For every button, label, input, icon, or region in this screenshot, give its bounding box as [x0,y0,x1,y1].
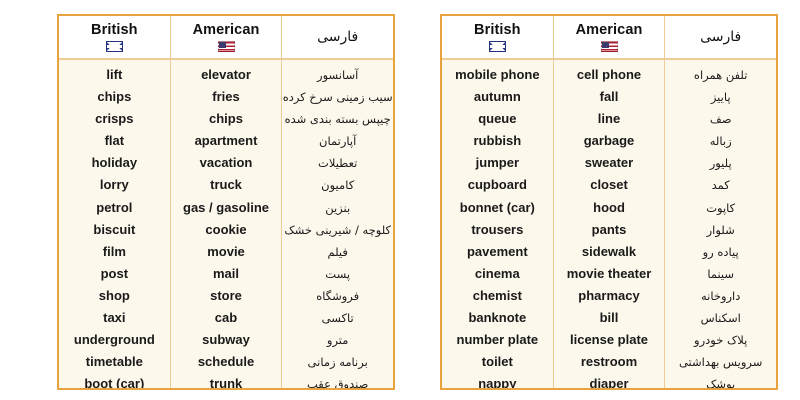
column-persian-left: آسانسورسیب زمینی سرخ کردهچیپس بسته بندی … [281,60,393,390]
table-cell: closet [590,174,628,196]
table-cell: pants [592,219,627,241]
table-body-right: mobile phoneautumnqueuerubbishjumpercupb… [442,60,776,390]
table-cell: آپارتمان [319,130,356,152]
table-cell: اسکناس [701,307,741,329]
table-cell: boot (car) [84,373,144,390]
table-cell: سیب زمینی سرخ کرده [283,86,393,108]
table-cell: پلیور [710,152,732,174]
table-cell: بنزین [325,197,350,219]
column-american-left: elevatorfrieschipsapartmentvacationtruck… [170,60,282,390]
column-header-label: British [91,23,138,38]
table-cell: autumn [474,86,521,108]
table-cell: cab [215,307,237,329]
table-cell: پست [325,263,350,285]
table-cell: crisps [95,108,133,130]
table-cell: داروخانه [701,285,740,307]
table-cell: تاکسی [322,307,354,329]
column-header-persian-right: فارسی [664,16,776,58]
table-cell: garbage [584,130,635,152]
column-british-right: mobile phoneautumnqueuerubbishjumpercupb… [442,60,553,390]
table-cell: taxi [103,307,125,329]
table-cell: restroom [581,351,637,373]
table-cell: cupboard [468,174,527,196]
table-cell: subway [202,329,250,351]
table-cell: rubbish [474,130,522,152]
table-cell: trousers [471,219,523,241]
table-cell: diaper [590,373,629,390]
table-cell: schedule [198,351,254,373]
table-cell: مترو [327,329,349,351]
table-cell: cell phone [577,64,641,86]
column-header-label: British [474,23,521,38]
table-cell: فیلم [327,241,347,263]
table-cell: فروشگاه [316,285,359,307]
table-cell: پیاده رو [703,241,739,263]
table-cell: کمد [712,174,730,196]
table-header-row-right: British American فارسی [442,16,776,60]
table-cell: آسانسور [317,64,358,86]
column-header-british-left: British [59,16,170,58]
table-cell: bonnet (car) [460,197,535,219]
table-cell: store [210,285,242,307]
table-cell: holiday [92,152,138,174]
column-british-left: liftchipscrispsflatholidaylorrypetrolbis… [59,60,170,390]
table-cell: hood [593,197,625,219]
table-cell: کلوچه / شیرینی خشک [284,219,391,241]
table-cell: timetable [86,351,143,373]
table-cell: pharmacy [578,285,639,307]
table-cell: jumper [476,152,519,174]
table-cell: film [103,241,126,263]
column-header-british-right: British [442,16,553,58]
table-cell: سرویس بهداشتی [679,351,762,373]
table-cell: underground [74,329,155,351]
table-cell: license plate [570,329,648,351]
table-cell: cookie [205,219,246,241]
column-header-label: فارسی [700,30,741,45]
table-cell: تعطیلات [318,152,357,174]
column-header-american-right: American [553,16,665,58]
table-cell: صندوق عقب [307,373,368,390]
column-header-label: American [193,23,260,38]
table-cell: movie [207,241,245,263]
table-cell: lift [106,64,122,86]
table-cell: line [598,108,620,130]
column-header-label: فارسی [317,30,358,45]
table-cell: elevator [201,64,251,86]
table-cell: movie theater [567,263,652,285]
table-cell: bill [600,307,619,329]
table-cell: flat [105,130,125,152]
table-cell: nappy [478,373,516,390]
table-cell: سینما [707,263,734,285]
table-cell: biscuit [93,219,135,241]
table-cell: mail [213,263,239,285]
us-flag-icon [218,41,235,52]
table-cell: truck [210,174,242,196]
table-cell: fries [212,86,239,108]
uk-flag-icon [489,41,506,52]
table-cell: gas / gasoline [183,197,269,219]
table-cell: number plate [457,329,539,351]
table-cell: fall [600,86,619,108]
table-cell: sweater [585,152,633,174]
table-cell: lorry [100,174,129,196]
table-cell: trunk [210,373,243,390]
column-header-persian-left: فارسی [281,16,393,58]
table-cell: کاپوت [706,197,735,219]
vocabulary-comparison-page: British American فارسی liftchipscrispsfl… [0,0,800,400]
table-cell: پاییز [711,86,731,108]
table-cell: صف [710,108,732,130]
table-cell: پوشک [706,373,735,390]
table-cell: تلفن همراه [694,64,748,86]
table-cell: sidewalk [582,241,636,263]
table-cell: chips [209,108,243,130]
table-cell: post [101,263,128,285]
column-header-label: American [576,23,643,38]
table-cell: chemist [473,285,522,307]
table-cell: cinema [475,263,520,285]
uk-flag-icon [106,41,123,52]
table-cell: mobile phone [455,64,540,86]
column-american-right: cell phonefalllinegarbagesweaterclosetho… [553,60,665,390]
column-persian-right: تلفن همراهپاییزصفزبالهپلیورکمدکاپوتشلوار… [664,60,776,390]
table-cell: زباله [710,130,732,152]
column-header-american-left: American [170,16,282,58]
table-header-row-left: British American فارسی [59,16,393,60]
table-body-left: liftchipscrispsflatholidaylorrypetrolbis… [59,60,393,390]
vocabulary-table-left: British American فارسی liftchipscrispsfl… [57,14,395,390]
table-cell: vacation [200,152,253,174]
table-cell: chips [97,86,131,108]
table-cell: pavement [467,241,528,263]
table-cell: شلوار [707,219,735,241]
table-cell: apartment [195,130,258,152]
table-cell: shop [99,285,130,307]
table-cell: queue [478,108,516,130]
table-cell: پلاک خودرو [694,329,747,351]
us-flag-icon [601,41,618,52]
table-cell: banknote [468,307,526,329]
table-cell: petrol [96,197,132,219]
table-cell: برنامه زمانی [308,351,368,373]
table-cell: toilet [482,351,513,373]
table-cell: چیپس بسته بندی شده [285,108,391,130]
vocabulary-table-right: British American فارسی mobile phoneautum… [440,14,778,390]
table-cell: کامیون [321,174,354,196]
